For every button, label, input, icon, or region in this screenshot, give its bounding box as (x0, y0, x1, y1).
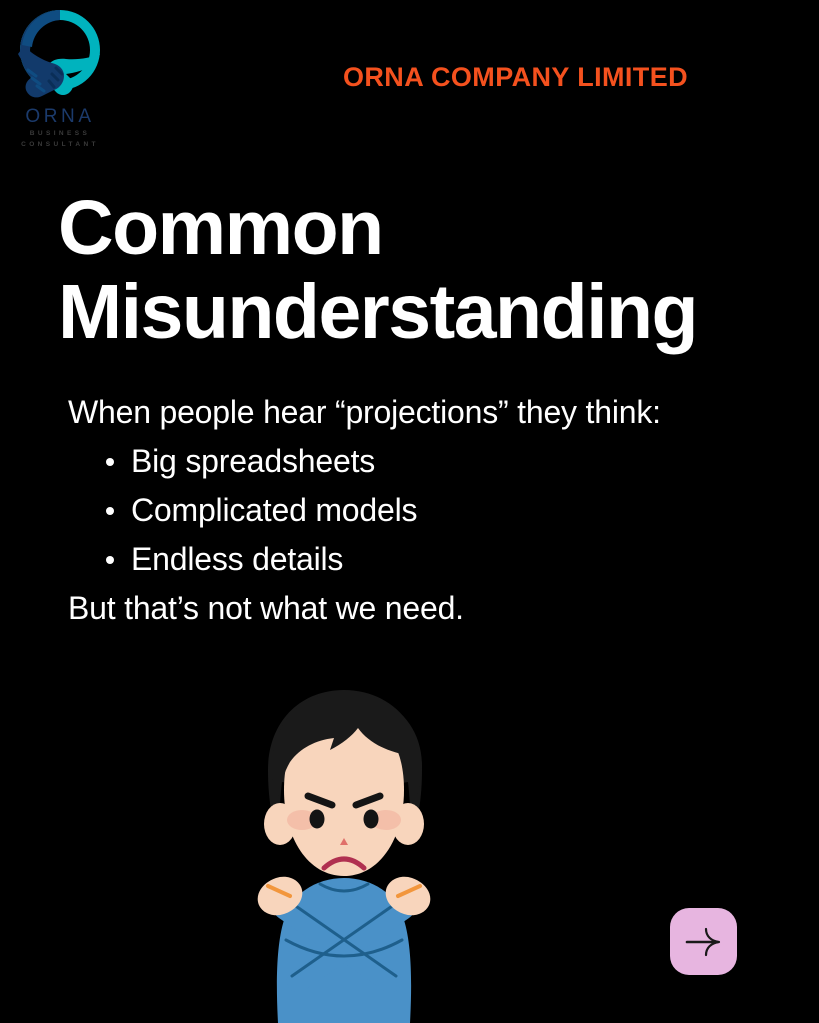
logo-tagline-line1: BUSINESS (4, 128, 116, 139)
next-slide-button[interactable] (670, 908, 737, 975)
person-crossed-arms-no-gesture-icon (246, 686, 442, 1023)
lead-paragraph: When people hear “projections” they thin… (68, 388, 688, 437)
logo-wordmark: ORNA BUSINESS CONSULTANT (4, 106, 116, 150)
body-copy: When people hear “projections” they thin… (68, 388, 758, 633)
bullet-dot-icon (106, 556, 114, 564)
company-name-header: ORNA COMPANY LIMITED (343, 62, 688, 93)
list-item: Complicated models (68, 486, 758, 535)
handshake-circle-icon (4, 2, 116, 106)
bullet-list: Big spreadsheets Complicated models Endl… (68, 437, 758, 584)
brand-logo: ORNA BUSINESS CONSULTANT (4, 2, 116, 154)
logo-name: ORNA (4, 106, 116, 128)
logo-tagline-line2: CONSULTANT (4, 139, 116, 150)
list-item: Endless details (68, 535, 758, 584)
list-item-label: Big spreadsheets (131, 443, 375, 479)
list-item-label: Complicated models (131, 492, 417, 528)
list-item-label: Endless details (131, 541, 343, 577)
page-title-line-2: Misunderstanding (58, 270, 798, 354)
closing-paragraph: But that’s not what we need. (68, 584, 758, 633)
list-item: Big spreadsheets (68, 437, 758, 486)
page-title: Common Misunderstanding (58, 186, 798, 354)
page-title-line-1: Common (58, 186, 798, 270)
slide-canvas: ORNA BUSINESS CONSULTANT ORNA COMPANY LI… (0, 0, 819, 1023)
arrow-right-icon (685, 927, 723, 957)
bullet-dot-icon (106, 458, 114, 466)
bullet-dot-icon (106, 507, 114, 515)
